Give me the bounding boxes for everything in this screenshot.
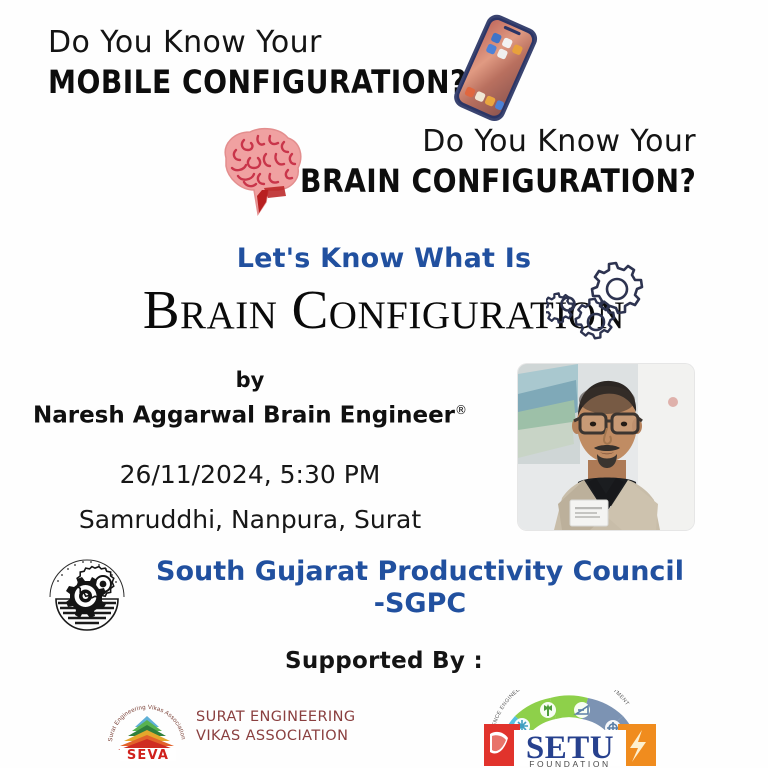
- event-datetime: 26/11/2024, 5:30 PM: [0, 460, 500, 489]
- organizer-name-text: South Gujarat Productivity Council: [156, 556, 684, 587]
- gears-icon: [546, 258, 658, 344]
- seva-line2: VIKAS ASSOCIATION: [196, 727, 356, 746]
- seva-line1: SURAT ENGINEERING: [196, 708, 356, 727]
- speaker-byline: by Naresh Aggarwal Brain Engineer®: [0, 368, 500, 430]
- event-venue: Samruddhi, Nanpura, Surat: [0, 505, 500, 534]
- organizer-abbreviation: -SGPC: [140, 588, 700, 620]
- setu-logo: SCIENCE ENGINEERING AND TECHNOLOGICAL UP…: [470, 690, 670, 768]
- brain-question-line1: Do You Know Your: [246, 125, 696, 159]
- seva-wordmark-text: SURAT ENGINEERING VIKAS ASSOCIATION: [196, 708, 356, 746]
- svg-text:FOUNDATION: FOUNDATION: [529, 759, 611, 768]
- speaker-name: Naresh Aggarwal Brain Engineer: [33, 403, 455, 429]
- by-label: by: [0, 368, 500, 392]
- event-poster: Do You Know Your MOBILE CONFIGURATION?: [0, 0, 768, 768]
- supported-by-label: Supported By :: [0, 648, 768, 674]
- registered-trademark-icon: ®: [455, 403, 467, 417]
- svg-text:SEVA: SEVA: [127, 748, 169, 762]
- speaker-name-row: Naresh Aggarwal Brain Engineer®: [0, 396, 500, 430]
- seva-logo-block: Surat Engineering Vikas Association SEVA…: [104, 700, 354, 768]
- brain-question-line2: BRAIN CONFIGURATION?: [300, 161, 696, 201]
- organizer-name: South Gujarat Productivity Council -SGPC: [140, 556, 700, 620]
- mobile-phone-icon: [437, 12, 555, 122]
- seva-logo: Surat Engineering Vikas Association SEVA: [104, 700, 190, 762]
- mobile-question-line2: MOBILE CONFIGURATION?: [48, 62, 467, 102]
- speaker-portrait: [518, 364, 694, 530]
- sgpc-logo: [42, 551, 132, 641]
- brain-question-block: Do You Know Your BRAIN CONFIGURATION?: [246, 125, 696, 201]
